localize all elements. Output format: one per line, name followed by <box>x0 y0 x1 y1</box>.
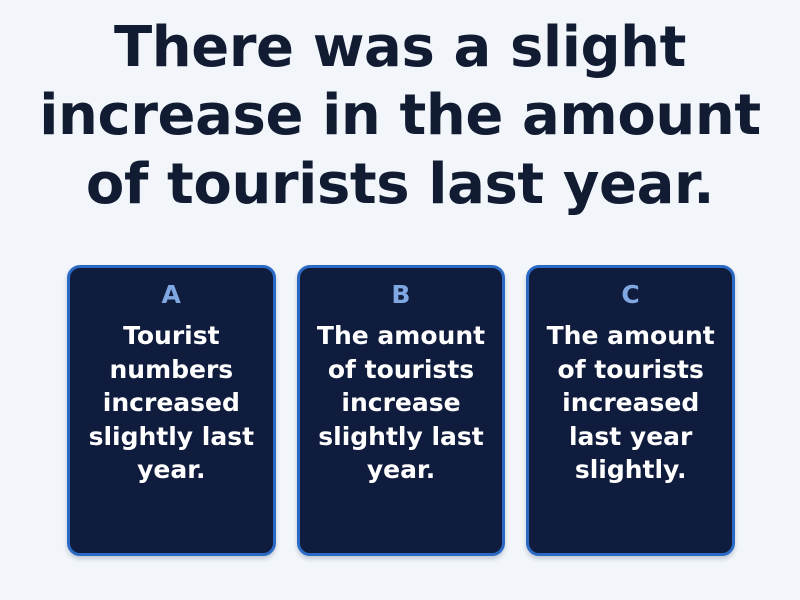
answer-text-a: Tourist numbers increased slightly last … <box>80 319 263 487</box>
answer-text-c: The amount of tourists increased last ye… <box>539 319 722 487</box>
answer-card-b[interactable]: B The amount of tourists increase slight… <box>297 265 506 556</box>
question-area: There was a slight increase in the amoun… <box>0 0 800 252</box>
question-text: There was a slight increase in the amoun… <box>34 14 766 219</box>
answer-text-b: The amount of tourists increase slightly… <box>310 319 493 487</box>
answer-letter-c: C <box>621 282 640 307</box>
answer-letter-a: A <box>162 282 182 307</box>
answer-options-list: A Tourist numbers increased slightly las… <box>0 252 800 600</box>
answer-card-c[interactable]: C The amount of tourists increased last … <box>526 265 735 556</box>
answer-card-a[interactable]: A Tourist numbers increased slightly las… <box>67 265 276 556</box>
answer-letter-b: B <box>391 282 410 307</box>
quiz-screen: There was a slight increase in the amoun… <box>0 0 800 600</box>
